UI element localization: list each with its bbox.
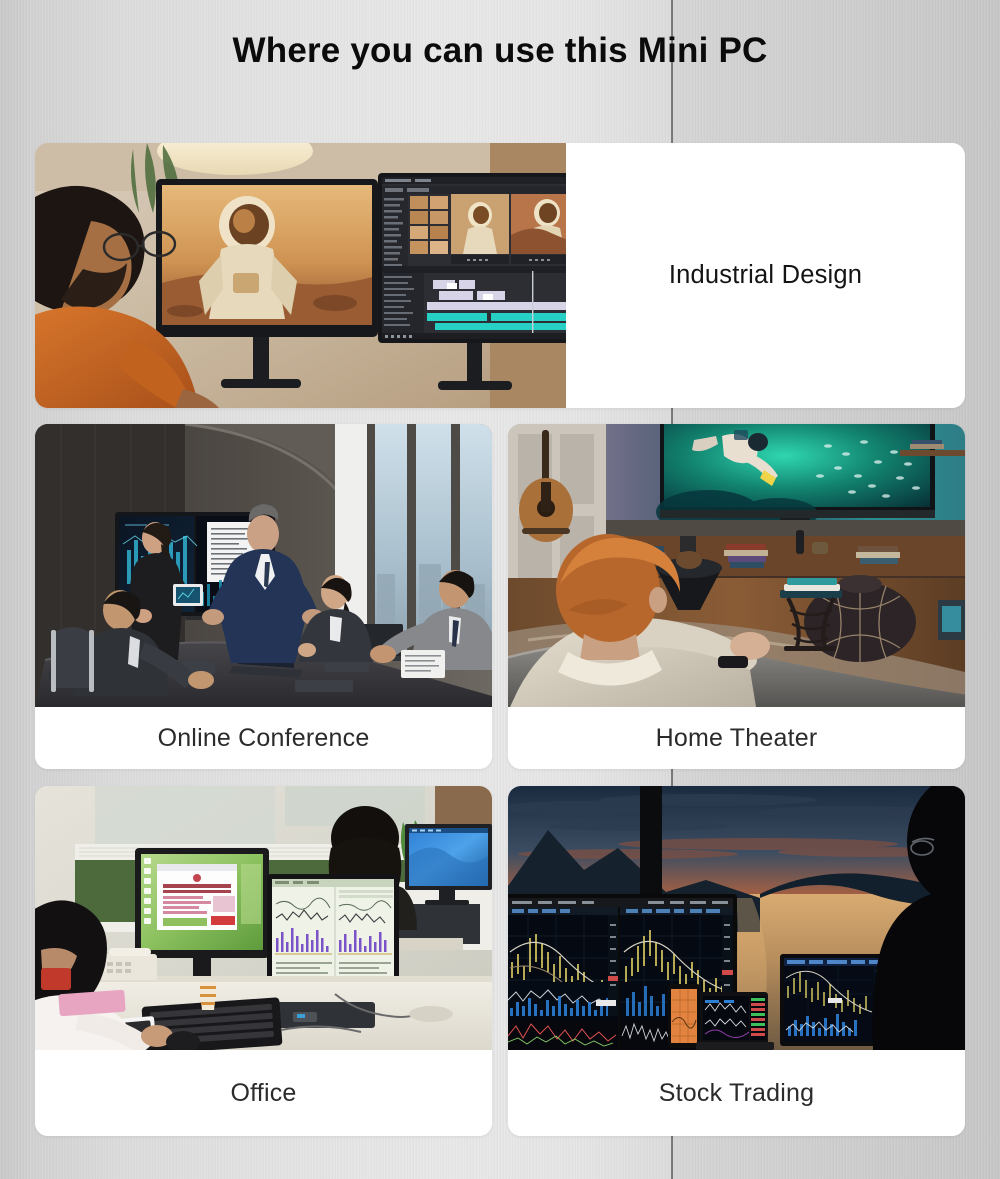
card-industrial-design[interactable]: Industrial Design	[35, 143, 965, 408]
use-case-grid: Industrial Design	[35, 143, 965, 1136]
grid-row-2: Online Conference	[35, 424, 965, 769]
card-label-stock-trading: Stock Trading	[659, 1079, 814, 1108]
card-label-office: Office	[230, 1079, 296, 1108]
label-panel-online-conference: Online Conference	[35, 707, 492, 769]
card-label-home-theater: Home Theater	[656, 724, 818, 753]
photo-online-conference	[35, 424, 492, 707]
label-panel-stock-trading: Stock Trading	[508, 1050, 965, 1136]
card-online-conference[interactable]: Online Conference	[35, 424, 492, 769]
card-label-online-conference: Online Conference	[158, 724, 370, 753]
photo-industrial-design	[35, 143, 566, 408]
label-panel-home-theater: Home Theater	[508, 707, 965, 769]
page-title: Where you can use this Mini PC	[0, 31, 1000, 71]
label-panel-industrial-design: Industrial Design	[566, 143, 965, 408]
card-office[interactable]: Office	[35, 786, 492, 1136]
grid-row-1: Industrial Design	[35, 143, 965, 408]
card-label-industrial-design: Industrial Design	[669, 261, 862, 290]
grid-row-3: Office	[35, 786, 965, 1136]
card-stock-trading[interactable]: Stock Trading	[508, 786, 965, 1136]
photo-office	[35, 786, 492, 1050]
photo-stock-trading	[508, 786, 965, 1050]
label-panel-office: Office	[35, 1050, 492, 1136]
photo-home-theater	[508, 424, 965, 707]
card-home-theater[interactable]: Home Theater	[508, 424, 965, 769]
